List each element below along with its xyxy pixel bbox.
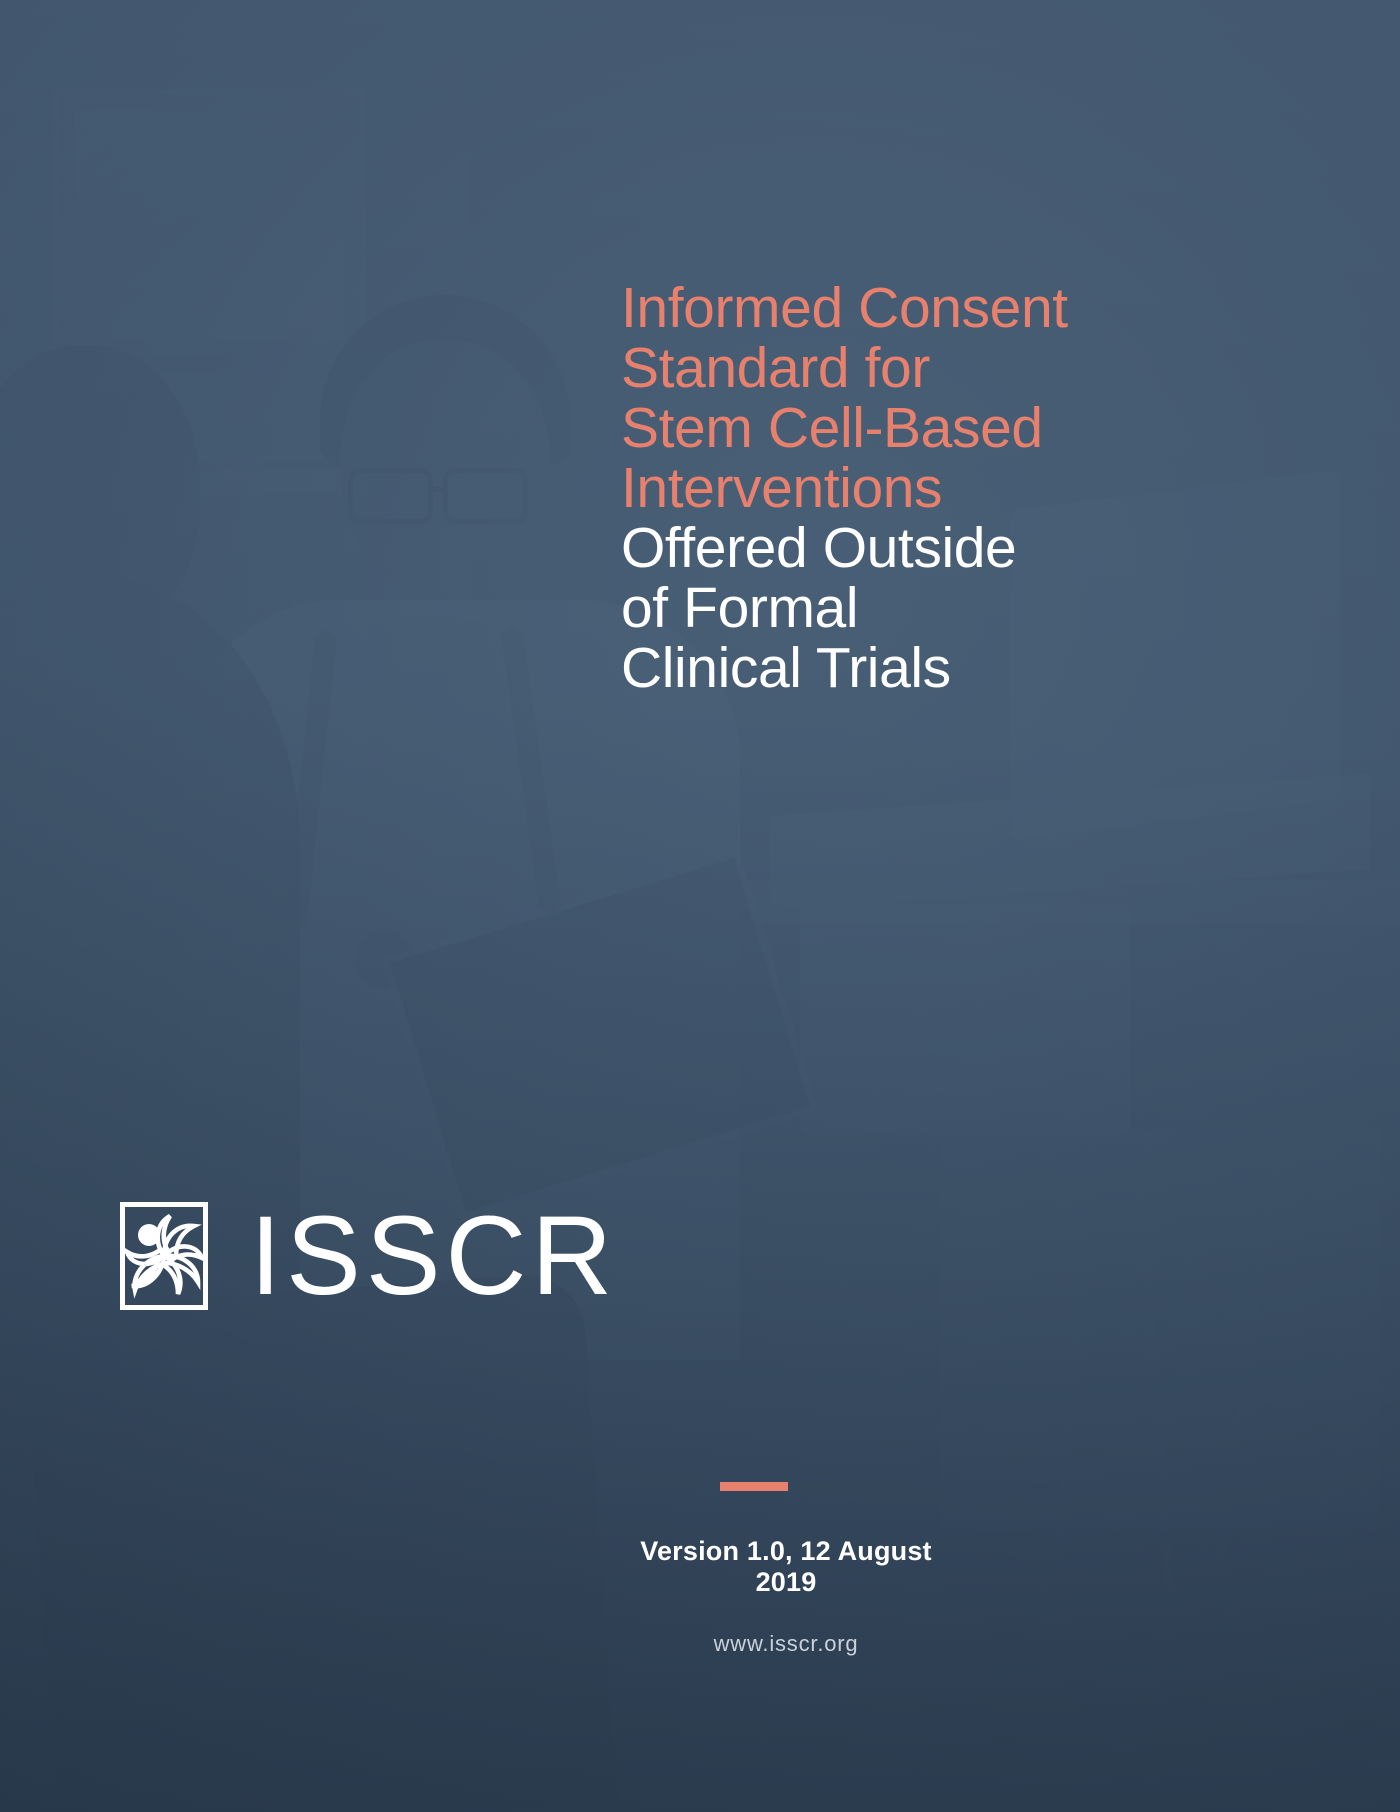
- cover-footer: Version 1.0, 12 August 2019 www.isscr.or…: [621, 1482, 1181, 1657]
- website-url: www.isscr.org: [621, 1631, 951, 1657]
- accent-divider: [720, 1482, 788, 1491]
- isscr-logo: ISSCR: [120, 1200, 617, 1312]
- title-line-5: Offered Outside: [621, 518, 1321, 578]
- title-line-2: Standard for: [621, 338, 1321, 398]
- cover-content: Informed Consent Standard for Stem Cell-…: [0, 0, 1400, 1812]
- title-line-6: of Formal: [621, 578, 1321, 638]
- isscr-spiral-icon: [120, 1202, 208, 1310]
- cover-title-block: Informed Consent Standard for Stem Cell-…: [621, 278, 1321, 698]
- title-line-3: Stem Cell-Based: [621, 398, 1321, 458]
- version-text: Version 1.0, 12 August 2019: [621, 1536, 951, 1598]
- title-line-1: Informed Consent: [621, 278, 1321, 338]
- title-line-4: Interventions: [621, 458, 1321, 518]
- title-line-7: Clinical Trials: [621, 638, 1321, 698]
- isscr-wordmark: ISSCR: [250, 1200, 617, 1312]
- cover-page: Informed Consent Standard for Stem Cell-…: [0, 0, 1400, 1812]
